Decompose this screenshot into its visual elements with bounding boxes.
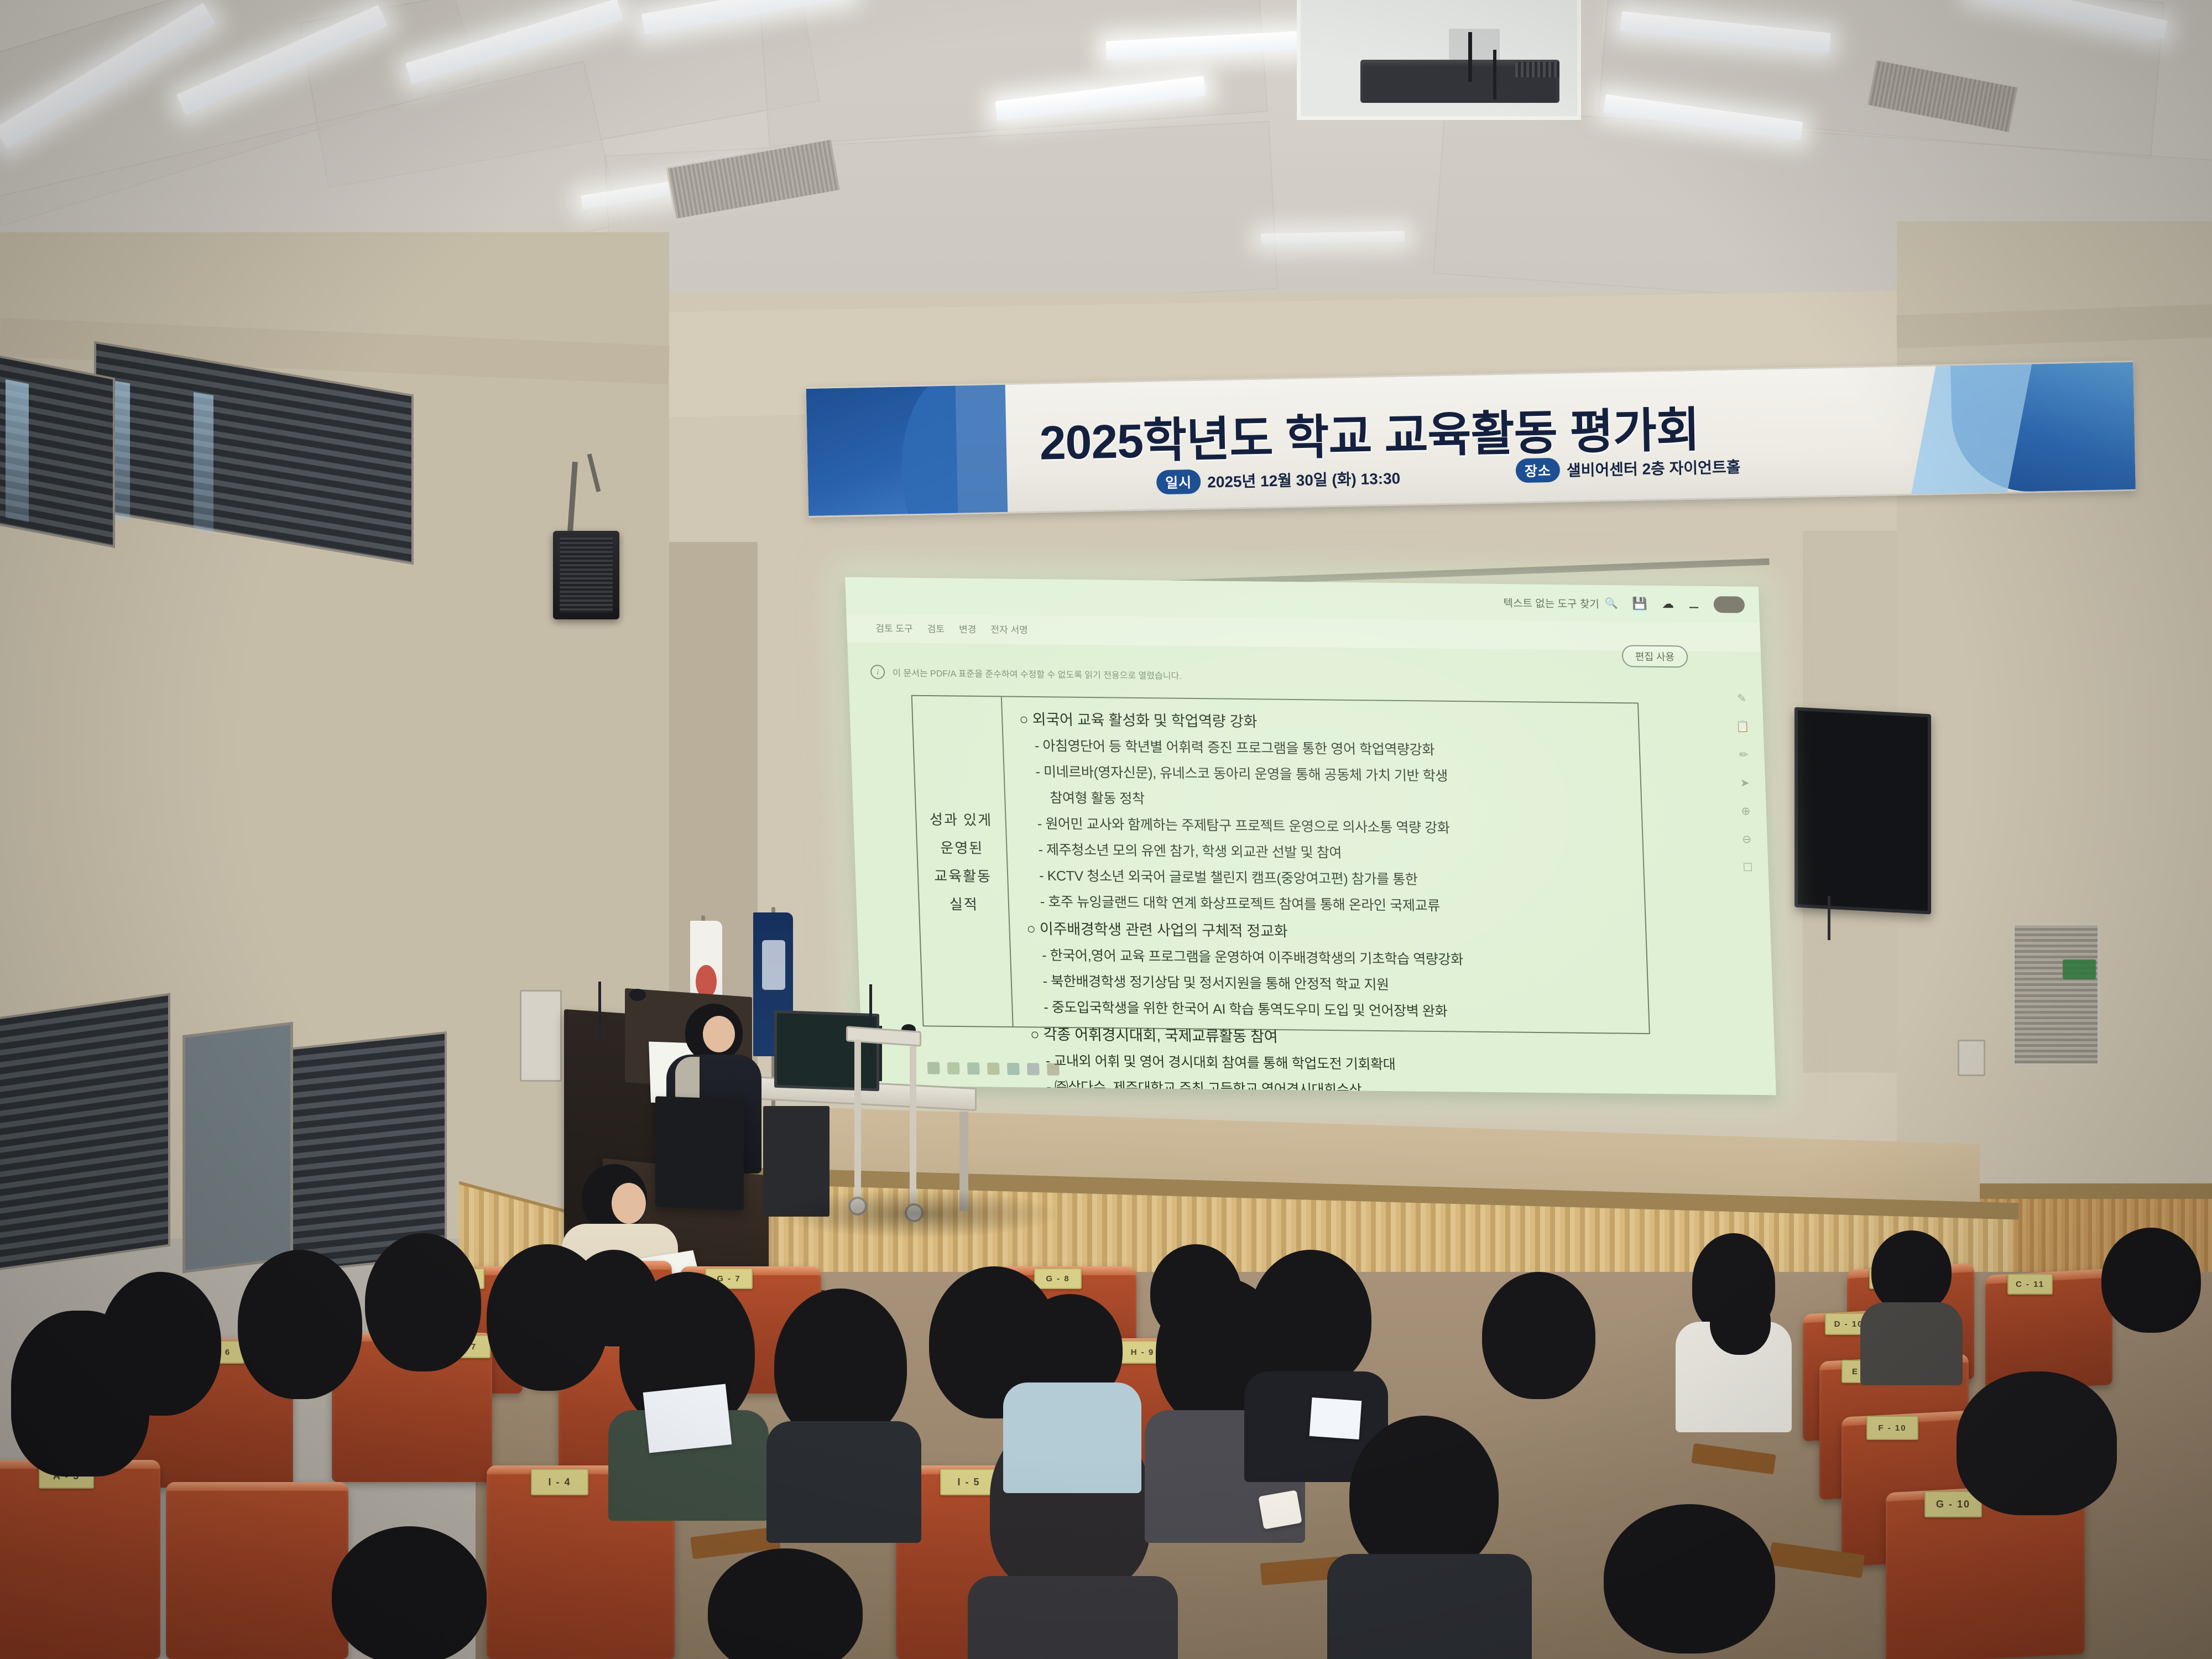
row-header-line: 실적 bbox=[949, 893, 978, 914]
row-header-line: 운영된 bbox=[940, 837, 984, 858]
window-light bbox=[6, 379, 29, 522]
attendee bbox=[332, 1526, 498, 1659]
save-icon[interactable]: 💾 bbox=[1632, 597, 1647, 611]
zoom-in-icon[interactable]: ⊕ bbox=[1741, 804, 1751, 818]
menu-digital-signature[interactable]: 전자 서명 bbox=[990, 622, 1028, 636]
bullet-heading: ○ 외국어 교육 활성화 및 학업역량 강화 bbox=[1019, 707, 1639, 735]
banner-place-value: 샐비어센터 2층 자이언트홀 bbox=[1567, 455, 1741, 481]
seat-label: I - 4 bbox=[531, 1469, 588, 1495]
wall-outlet[interactable] bbox=[1958, 1040, 1985, 1076]
bullet-heading: ○ 각종 어휘경시대회, 국제교류활동 참여 bbox=[1030, 1022, 1649, 1050]
bullet-item: - 아침영단어 등 학년별 어휘력 증진 프로그램을 통한 영어 학업역량강화 bbox=[1034, 735, 1639, 761]
document-side-rail: ✎ 📋 ✏ ➤ ⊕ ⊖ ☐ bbox=[1729, 691, 1766, 1045]
banner-place: 장소 샐비어센터 2층 자이언트홀 bbox=[1515, 454, 1740, 483]
projected-document: 텍스트 없는 도구 찾기 🔍 💾 ☁ ⚊ 검토 도구 검토 변경 전자 서명 편… bbox=[845, 577, 1776, 1095]
banner-date: 일시 2025년 12월 30일 (화) 13:30 bbox=[1156, 465, 1401, 494]
bullet-item: - 한국어,영어 교육 프로그램을 운영하여 이주배경학생의 기초학습 역량강화 bbox=[1042, 945, 1647, 971]
pen-icon[interactable]: ✏ bbox=[1739, 748, 1749, 761]
auditorium-photo: 2025학년도 학교 교육활동 평가회 일시 2025년 12월 30일 (화)… bbox=[0, 0, 2212, 1659]
cart-leg bbox=[910, 1046, 916, 1207]
bullet-item: - 미네르바(영자신문), 유네스코 동아리 운영을 통해 공동체 가치 기반 … bbox=[1035, 761, 1640, 787]
projection-screen: 텍스트 없는 도구 찾기 🔍 💾 ☁ ⚊ 검토 도구 검토 변경 전자 서명 편… bbox=[845, 577, 1776, 1095]
paper-cup bbox=[1258, 1490, 1302, 1529]
row-header-line: 교육활동 bbox=[934, 865, 992, 886]
readonly-notice: i 이 문서는 PDF/A 표준을 준수하여 수정할 수 없도록 읽기 전용으로… bbox=[870, 660, 1640, 692]
floor-cable bbox=[786, 1090, 832, 1293]
document-menus: 검토 도구 검토 변경 전자 서명 bbox=[875, 620, 1028, 636]
attendee bbox=[2096, 1228, 2206, 1394]
education-office-flag-emblem bbox=[762, 940, 785, 990]
banner-date-label: 일시 bbox=[1156, 469, 1201, 495]
bullet-item: - 교내외 어휘 및 영어 경시대회 참여를 통해 학업도전 기회확대 bbox=[1045, 1050, 1650, 1076]
attendee bbox=[100, 1272, 227, 1454]
upload-icon[interactable]: ☁ bbox=[1662, 597, 1674, 611]
banner-decoration-right bbox=[1950, 362, 2136, 493]
banner-place-label: 장소 bbox=[1515, 458, 1560, 483]
slide-table: 성과 있게 운영된 교육활동 실적 ○ 외국어 교육 활성화 및 학업역량 강화… bbox=[911, 695, 1650, 1034]
info-icon: i bbox=[870, 665, 885, 679]
window-frame bbox=[182, 1022, 293, 1274]
attendee bbox=[1703, 1288, 1775, 1388]
handout-paper bbox=[1310, 1397, 1362, 1439]
attendee bbox=[774, 1288, 912, 1499]
attendee bbox=[1150, 1244, 1250, 1371]
enable-editing-button[interactable]: 편집 사용 bbox=[1621, 645, 1688, 667]
bullet-item: - KCTV 청소년 외국어 글로벌 챌린지 캠프(중앙여고편) 참가를 통한 bbox=[1039, 865, 1644, 891]
comment-icon[interactable]: ✎ bbox=[1737, 691, 1747, 705]
seat-label: C - 11 bbox=[2007, 1274, 2053, 1295]
bullet-heading: ○ 이주배경학생 관련 사업의 구체적 정교화 bbox=[1026, 916, 1646, 945]
readonly-notice-text: 이 문서는 PDF/A 표준을 준수하여 수정할 수 없도록 읽기 전용으로 열… bbox=[893, 665, 1182, 681]
share-icon[interactable]: ➤ bbox=[1740, 776, 1750, 790]
presenter-face bbox=[612, 1183, 646, 1224]
attendee bbox=[1604, 1504, 1786, 1659]
wall-mounted-display[interactable] bbox=[1794, 707, 1931, 915]
bullet-item: - 호주 뉴잉글랜드 대학 연계 화상프로젝트 참여를 통해 온라인 국제교류 bbox=[1040, 891, 1645, 917]
wall-control-panel[interactable] bbox=[520, 990, 562, 1082]
row-header-line: 성과 있게 bbox=[929, 808, 992, 830]
avatar[interactable] bbox=[1713, 596, 1745, 613]
search-icon[interactable]: 🔍 bbox=[1604, 597, 1618, 610]
attendee bbox=[238, 1250, 371, 1432]
bullet-item: - 중도입국학생을 위한 한국어 AI 학습 통역도우미 도입 및 언어장벽 완… bbox=[1044, 997, 1648, 1022]
seat[interactable] bbox=[166, 1482, 348, 1659]
minimize-icon[interactable]: ⚊ bbox=[1688, 597, 1700, 612]
handout-paper bbox=[643, 1384, 732, 1453]
attendee bbox=[570, 1250, 664, 1377]
banner-decoration-left bbox=[806, 386, 958, 516]
event-banner: 2025학년도 학교 교육활동 평가회 일시 2025년 12월 30일 (화)… bbox=[806, 361, 2136, 518]
attendee bbox=[365, 1233, 492, 1416]
bullet-item-continued: 참여형 활동 정착 bbox=[1050, 787, 1641, 813]
operator-chair bbox=[655, 1096, 744, 1210]
attendee bbox=[1018, 1294, 1134, 1460]
seat-label: F - 10 bbox=[1866, 1416, 1918, 1440]
search-placeholder: 텍스트 없는 도구 찾기 bbox=[1503, 595, 1599, 611]
bullet-item: - 원어민 교사와 함께하는 주제탐구 프로젝트 운영으로 의사소통 역량 강화 bbox=[1037, 813, 1642, 839]
wall-vent bbox=[2013, 924, 2099, 1065]
banner-date-value: 2025년 12월 30일 (화) 13:30 bbox=[1207, 466, 1401, 492]
operator-monitor[interactable] bbox=[774, 1010, 879, 1092]
window-blinds[interactable] bbox=[0, 993, 170, 1274]
bullet-item: - 북한배경학생 정기상담 및 정서지원을 통해 안정적 학교 지원 bbox=[1042, 971, 1647, 997]
menu-review[interactable]: 검토 bbox=[927, 621, 945, 635]
attendee bbox=[1947, 1371, 2124, 1548]
bullet-item: - 제주청소년 모의 유엔 참가, 학생 외교관 선발 및 참여 bbox=[1038, 839, 1643, 865]
menu-review-tools[interactable]: 검토 도구 bbox=[875, 620, 913, 635]
search-field[interactable]: 텍스트 없는 도구 찾기 🔍 bbox=[1503, 595, 1618, 611]
attendee bbox=[1858, 1230, 1963, 1369]
zoom-out-icon[interactable]: ⊖ bbox=[1742, 832, 1752, 846]
table-row-header: 성과 있게 운영된 교육활동 실적 bbox=[912, 696, 1014, 1026]
exit-sign bbox=[2063, 959, 2096, 979]
cart-leg bbox=[854, 1040, 861, 1200]
window-light bbox=[194, 392, 213, 534]
fit-icon[interactable]: ☐ bbox=[1743, 860, 1753, 874]
microphone-head bbox=[629, 989, 646, 1001]
attendee bbox=[708, 1548, 874, 1659]
attendee bbox=[1482, 1272, 1604, 1454]
wall-speaker bbox=[553, 531, 619, 619]
gooseneck-microphone bbox=[869, 984, 898, 1056]
operator-face bbox=[703, 1016, 735, 1052]
taskbar-icons bbox=[927, 1062, 1060, 1075]
copy-icon[interactable]: 📋 bbox=[1736, 719, 1750, 733]
table-row-body: ○ 외국어 교육 활성화 및 학업역량 강화 - 아침영단어 등 학년별 어휘력… bbox=[1002, 697, 1649, 1033]
menu-changes[interactable]: 변경 bbox=[959, 622, 977, 635]
